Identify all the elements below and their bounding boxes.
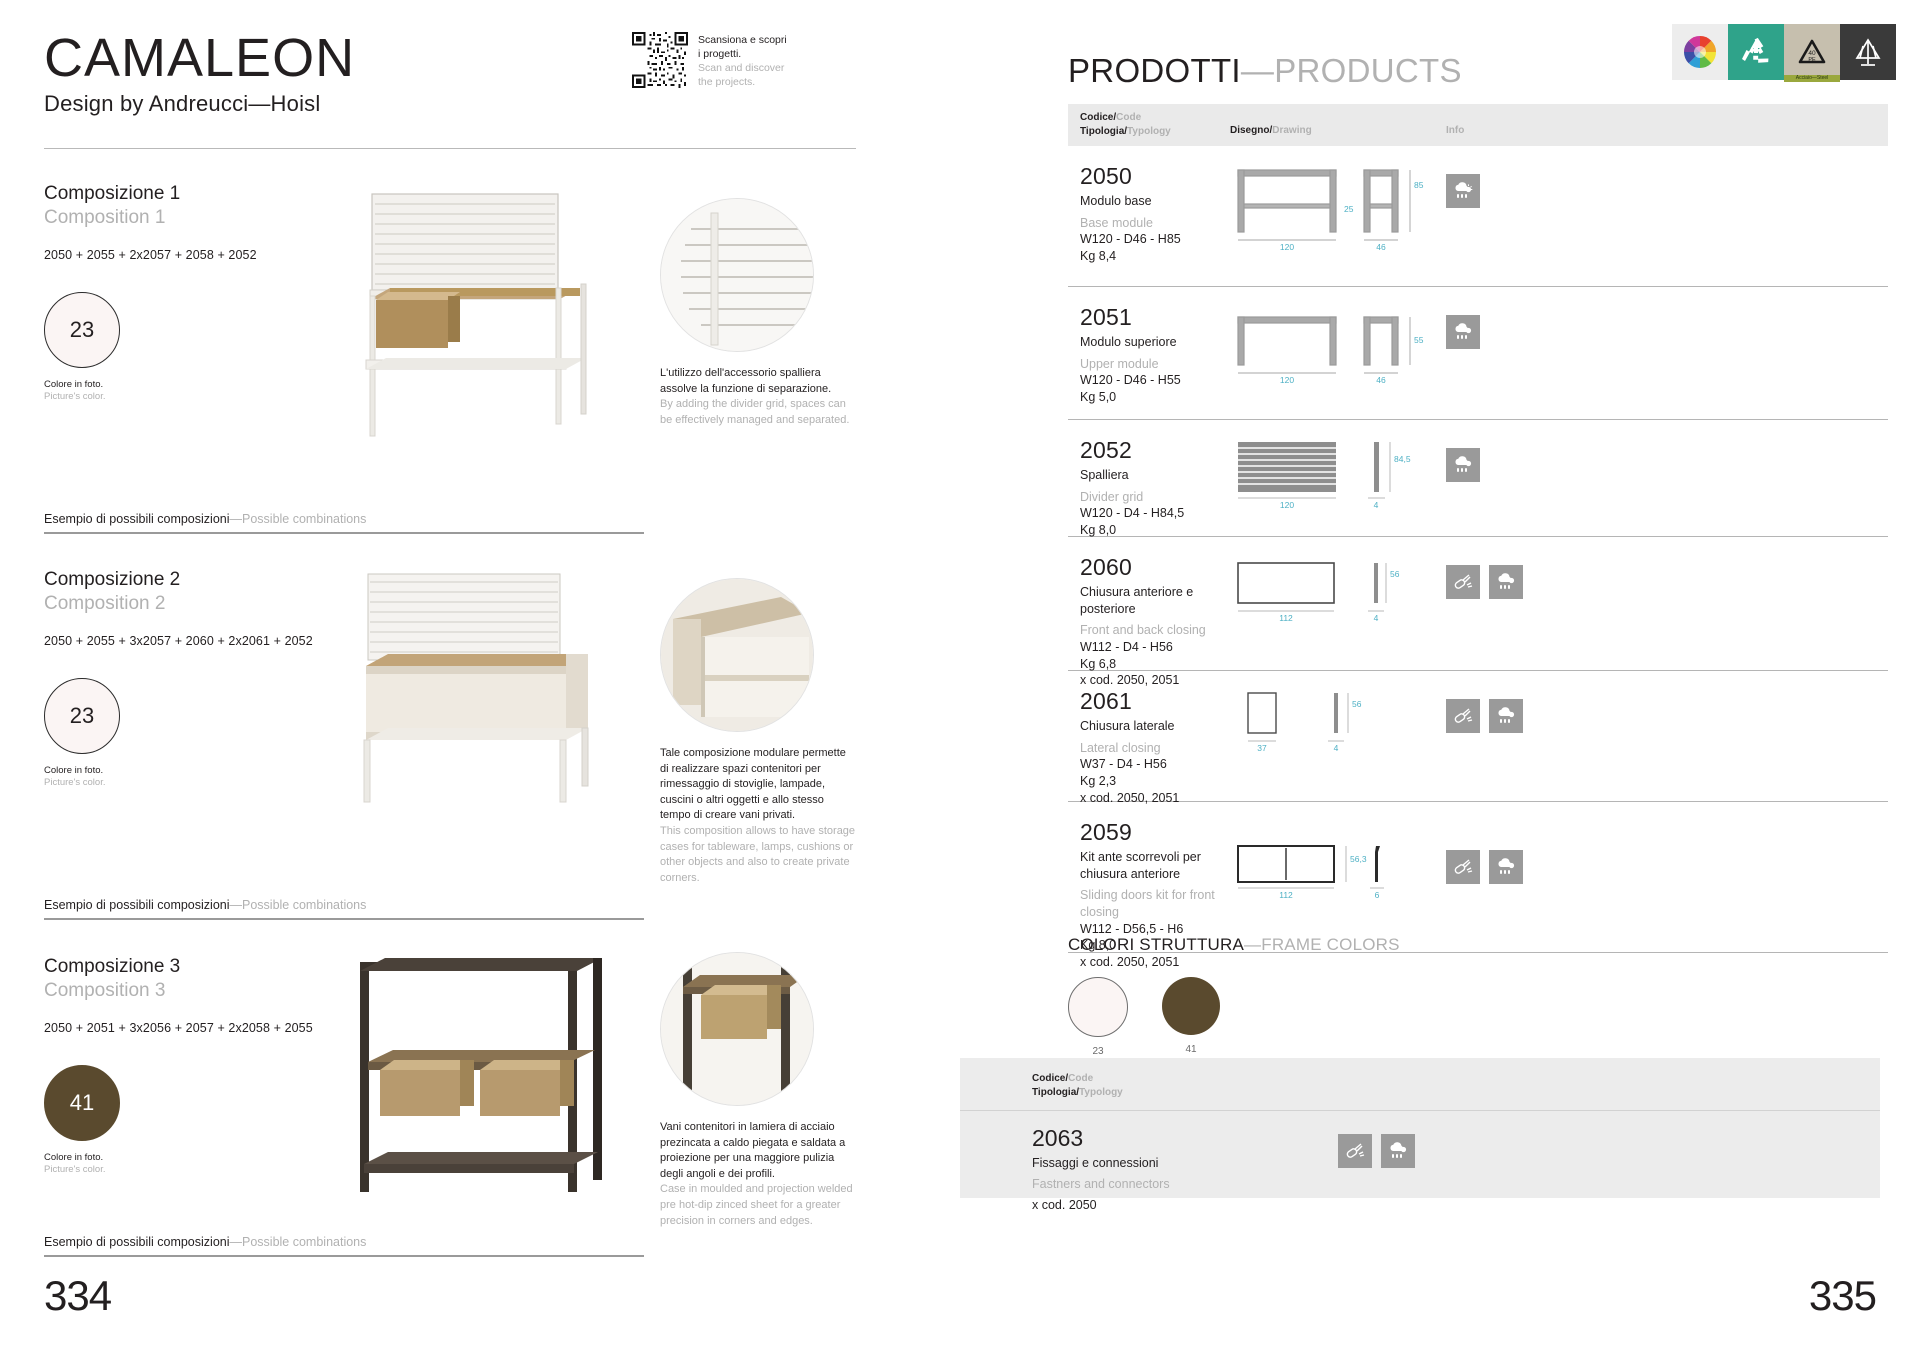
combinations-label-2: Esempio di possibili composizioni—Possib… <box>44 898 644 920</box>
combi-3-en: —Possible combinations <box>230 1235 367 1249</box>
product-row-2052[interactable]: 2052 Spalliera Divider grid W120 - D4 - … <box>1068 420 1888 537</box>
product-dims-2060: W112 - D4 - H56 <box>1080 639 1230 656</box>
product-drawing-2052: 120 4 84,5 <box>1228 436 1438 552</box>
qr-line1-en: Scan and discover <box>698 62 787 76</box>
products-table: Codice/Code Tipologia/Typology Disegno/D… <box>1068 104 1888 953</box>
composition-3-swatch-wrap: 41 Colore in foto. Picture's color. <box>44 1065 313 1178</box>
svg-text:4: 4 <box>1374 500 1379 510</box>
detail-1-text-en: By adding the divider grid, spaces can b… <box>660 397 856 428</box>
product-info-2051 <box>1446 315 1480 349</box>
svg-text:120: 120 <box>1280 375 1294 385</box>
combi-3-it: Esempio di possibili composizioni <box>44 1235 230 1249</box>
product-row-2051[interactable]: 2051 Modulo superiore Upper module W120 … <box>1068 287 1888 420</box>
product-weight-2050: Kg 8,4 <box>1080 248 1230 265</box>
detail-3-text-en: Case in moulded and projection welded pr… <box>660 1182 856 1229</box>
svg-text:85: 85 <box>1414 180 1424 190</box>
composition-2-swatch-caption: Colore in foto. Picture's color. <box>44 765 313 791</box>
swatch-caption-it: Colore in foto. <box>44 1152 313 1165</box>
header-divider <box>44 148 856 149</box>
svg-text:112: 112 <box>1279 890 1293 900</box>
composition-3-photo <box>340 952 630 1242</box>
composition-3-codes: 2050 + 2051 + 3x2056 + 2057 + 2x2058 + 2… <box>44 1021 313 1035</box>
left-page: CAMALEON Design by Andreucci—Hoisl <box>0 0 952 1358</box>
detail-1-text-it: L'utilizzo dell'accessorio spalliera ass… <box>660 366 856 397</box>
svg-text:56: 56 <box>1390 569 1400 579</box>
product-drawing-2050: 120 46 25 85 <box>1228 162 1438 302</box>
composition-1-swatch-caption: Colore in foto. Picture's color. <box>44 379 257 405</box>
composition-2-title-it: Composizione 2 <box>44 568 313 592</box>
svg-text:120: 120 <box>1280 500 1294 510</box>
accessory-code-2063: 2063 <box>1032 1126 1170 1151</box>
outdoor-weather-icon <box>1489 699 1523 733</box>
color-wheel-icon <box>1672 24 1728 80</box>
product-dims-2051: W120 - D46 - H55 <box>1080 372 1230 389</box>
th-code-it: Codice/ <box>1080 112 1116 123</box>
frame-colors-section: COLORI STRUTTURA—FRAME COLORS 23 41 <box>1068 935 1888 1057</box>
frame-colors-title-en: —FRAME COLORS <box>1244 935 1400 954</box>
composition-3-title-en: Composition 3 <box>44 979 313 1003</box>
products-title-en: —PRODUCTS <box>1241 52 1462 89</box>
composition-2-codes: 2050 + 2055 + 3x2057 + 2060 + 2x2061 + 2… <box>44 634 313 648</box>
accessory-info-2063 <box>1338 1134 1415 1168</box>
product-drawing-2060: 112 4 56 <box>1228 553 1438 686</box>
composition-3-detail-text: Vani contenitori in lamiera di acciaio p… <box>660 1120 856 1229</box>
composition-1-detail: L'utilizzo dell'accessorio spalliera ass… <box>660 198 856 428</box>
composition-2-detail: Tale composizione modulare permette di r… <box>660 578 856 886</box>
composition-2-detail-text: Tale composizione modulare permette di r… <box>660 746 856 886</box>
swatch-caption-it: Colore in foto. <box>44 379 257 392</box>
outdoor-weather-icon <box>1446 448 1480 482</box>
product-code-2051: 2051 <box>1080 305 1230 329</box>
composition-1-title-en: Composition 1 <box>44 206 257 230</box>
th-code-typology: Codice/Code Tipologia/Typology <box>1080 111 1171 138</box>
composition-3-title-it: Composizione 3 <box>44 955 313 979</box>
composition-1-title-it: Composizione 1 <box>44 182 257 206</box>
product-typ-it-2059: Kit ante scorrevoli per chiusura anterio… <box>1080 849 1230 882</box>
product-info-2061 <box>1446 699 1523 733</box>
frame-color-41[interactable]: 41 <box>1162 977 1220 1057</box>
th-code-en: Code <box>1116 112 1141 123</box>
lt-code-it: Codice/ <box>1032 1073 1068 1084</box>
svg-text:PE: PE <box>1808 57 1816 63</box>
product-row-2050[interactable]: 2050 Modulo base Base module W120 - D46 … <box>1068 146 1888 287</box>
lamp-icon <box>1840 24 1896 80</box>
swatch-caption-it: Colore in foto. <box>44 765 313 778</box>
frame-colors-row: 23 41 <box>1068 977 1888 1057</box>
frame-color-23[interactable]: 23 <box>1068 977 1128 1057</box>
th-drawing-it: Disegno/ <box>1230 125 1272 136</box>
accessory-xcod-2063: x cod. 2050 <box>1032 1197 1170 1214</box>
svg-text:55: 55 <box>1414 335 1424 345</box>
page-title: CAMALEON <box>44 30 355 87</box>
frame-colors-title-it: COLORI STRUTTURA <box>1068 935 1244 954</box>
qr-line2-en: the projects. <box>698 76 787 90</box>
lt-typology-en: Typology <box>1079 1087 1123 1098</box>
product-code-2061: 2061 <box>1080 689 1230 713</box>
qr-line1-it: Scansiona e scopri <box>698 34 787 48</box>
composition-1-detail-text: L'utilizzo dell'accessorio spalliera ass… <box>660 366 856 428</box>
outdoor-weather-icon <box>1489 850 1523 884</box>
composition-2-photo <box>330 570 640 820</box>
detail-3-text-it: Vani contenitori in lamiera di acciaio p… <box>660 1120 856 1182</box>
svg-text:112: 112 <box>1279 613 1293 623</box>
product-dims-2061: W37 - D4 - H56 <box>1080 756 1230 773</box>
product-typ-en-2050: Base module <box>1080 215 1230 232</box>
product-dims-2052: W120 - D4 - H84,5 <box>1080 505 1230 522</box>
product-code-2060: 2060 <box>1080 555 1230 579</box>
detail-2-text-it: Tale composizione modulare permette di r… <box>660 746 856 824</box>
composition-2-info: Composizione 2 Composition 2 2050 + 2055… <box>44 568 313 790</box>
product-typ-en-2059: Sliding doors kit for front closing <box>1080 887 1230 920</box>
product-info-2050 <box>1446 174 1480 208</box>
composition-1-swatch-wrap: 23 Colore in foto. Picture's color. <box>44 292 257 405</box>
svg-text:25: 25 <box>1344 204 1354 214</box>
fastener-icon <box>1446 699 1480 733</box>
lt-typology-it: Tipologia/ <box>1032 1087 1079 1098</box>
product-info-2052 <box>1446 448 1480 482</box>
fastener-icon <box>1446 850 1480 884</box>
swatch-caption-en: Picture's color. <box>44 777 313 790</box>
svg-text:46: 46 <box>1376 375 1386 385</box>
product-typ-en-2060: Front and back closing <box>1080 622 1230 639</box>
product-typ-en-2061: Lateral closing <box>1080 740 1230 757</box>
accessory-typ-en-2063: Fastners and connectors <box>1032 1176 1170 1193</box>
combinations-label-1: Esempio di possibili composizioni—Possib… <box>44 512 644 534</box>
th-drawing-en: Drawing <box>1272 125 1311 136</box>
composition-1-photo <box>330 188 630 468</box>
fastener-icon <box>1446 565 1480 599</box>
frame-color-code-23: 23 <box>1068 1046 1128 1057</box>
composition-1-info: Composizione 1 Composition 1 2050 + 2055… <box>44 182 257 404</box>
combi-1-it: Esempio di possibili composizioni <box>44 512 230 526</box>
composition-3-detail-photo <box>660 952 814 1106</box>
th-typology-en: Typology <box>1127 126 1171 137</box>
page-number-right: 335 <box>1809 1272 1876 1320</box>
product-row-2061[interactable]: 2061 Chiusura laterale Lateral closing W… <box>1068 671 1888 802</box>
recycle-icon <box>1728 24 1784 80</box>
product-dims-2050: W120 - D46 - H85 <box>1080 231 1230 248</box>
products-table-header: Codice/Code Tipologia/Typology Disegno/D… <box>1068 104 1888 146</box>
badge-3-sublabel: Acciaio—Steel <box>1784 75 1840 82</box>
designer-credit: Design by Andreucci—Hoisl <box>44 91 355 117</box>
th-drawing: Disegno/Drawing <box>1230 125 1312 136</box>
th-typology-it: Tipologia/ <box>1080 126 1127 137</box>
product-weight-2060: Kg 6,8 <box>1080 656 1230 673</box>
svg-text:40: 40 <box>1808 50 1816 57</box>
svg-text:4: 4 <box>1334 743 1339 753</box>
accessory-typ-it-2063: Fissaggi e connessioni <box>1032 1155 1170 1172</box>
outdoor-weather-icon <box>1381 1134 1415 1168</box>
combi-2-it: Esempio di possibili composizioni <box>44 898 230 912</box>
products-title-it: PRODOTTI <box>1068 52 1241 89</box>
product-typ-en-2052: Divider grid <box>1080 489 1230 506</box>
svg-text:56: 56 <box>1352 699 1362 709</box>
svg-text:37: 37 <box>1257 743 1267 753</box>
composition-1-color-swatch: 23 <box>44 292 120 368</box>
frame-color-dot-23 <box>1068 977 1128 1037</box>
products-title: PRODOTTI—PRODUCTS <box>1068 52 1462 90</box>
page-number-left: 334 <box>44 1272 111 1320</box>
detail-2-text-en: This composition allows to have storage … <box>660 824 856 886</box>
svg-text:84,5: 84,5 <box>1394 454 1411 464</box>
composition-2-title-en: Composition 2 <box>44 592 313 616</box>
product-typ-en-2051: Upper module <box>1080 356 1230 373</box>
product-code-2059: 2059 <box>1080 820 1230 844</box>
combi-1-en: —Possible combinations <box>230 512 367 526</box>
product-typ-it-2050: Modulo base <box>1080 193 1230 210</box>
composition-2-color-swatch: 23 <box>44 678 120 754</box>
outdoor-weather-icon <box>1489 565 1523 599</box>
product-row-2059[interactable]: 2059 Kit ante scorrevoli per chiusura an… <box>1068 802 1888 953</box>
qr-code-icon[interactable] <box>632 32 688 88</box>
composition-1-detail-photo <box>660 198 814 352</box>
frame-colors-title: COLORI STRUTTURA—FRAME COLORS <box>1068 935 1888 955</box>
product-weight-2051: Kg 5,0 <box>1080 389 1230 406</box>
accessories-table-divider <box>960 1110 1880 1111</box>
accessories-table-header: Codice/Code Tipologia/Typology <box>1032 1072 1123 1100</box>
composition-1-codes: 2050 + 2055 + 2x2057 + 2058 + 2052 <box>44 248 257 262</box>
svg-text:120: 120 <box>1280 242 1294 252</box>
product-typ-it-2061: Chiusura laterale <box>1080 718 1230 735</box>
accessories-row-2063[interactable]: 2063 Fissaggi e connessioni Fastners and… <box>1032 1126 1170 1213</box>
product-row-2060[interactable]: 2060 Chiusura anteriore e posteriore Fro… <box>1068 537 1888 671</box>
outdoor-weather-icon <box>1446 315 1480 349</box>
qr-line2-it: i progetti. <box>698 48 787 62</box>
product-code-2050: 2050 <box>1080 164 1230 188</box>
composition-3-detail: Vani contenitori in lamiera di acciaio p… <box>660 952 856 1229</box>
accessories-table: Codice/Code Tipologia/Typology 2063 Fiss… <box>960 1058 1880 1198</box>
qr-block[interactable]: Scansiona e scopri i progetti. Scan and … <box>632 32 787 89</box>
product-typ-it-2052: Spalliera <box>1080 467 1230 484</box>
swatch-caption-en: Picture's color. <box>44 1164 313 1177</box>
composition-3-swatch-caption: Colore in foto. Picture's color. <box>44 1152 313 1178</box>
pe-recycling-icon: 40 PE Acciaio—Steel <box>1784 24 1840 80</box>
product-drawing-2051: 120 46 55 <box>1228 303 1438 435</box>
frame-color-dot-41 <box>1162 977 1220 1035</box>
svg-text:46: 46 <box>1376 242 1386 252</box>
product-weight-2061: Kg 2,3 <box>1080 773 1230 790</box>
svg-text:4: 4 <box>1374 613 1379 623</box>
product-info-2059 <box>1446 850 1523 884</box>
composition-2-detail-photo <box>660 578 814 732</box>
brand-block: CAMALEON Design by Andreucci—Hoisl <box>44 30 355 117</box>
composition-2-swatch-wrap: 23 Colore in foto. Picture's color. <box>44 678 313 791</box>
composition-3-color-swatch: 41 <box>44 1065 120 1141</box>
product-drawing-2061: 37 4 56 <box>1228 687 1438 817</box>
product-typ-it-2051: Modulo superiore <box>1080 334 1230 351</box>
qr-caption: Scansiona e scopri i progetti. Scan and … <box>698 32 787 89</box>
lt-code-en: Code <box>1068 1073 1093 1084</box>
fastener-icon <box>1338 1134 1372 1168</box>
svg-text:56,3: 56,3 <box>1350 854 1367 864</box>
product-typ-it-2060: Chiusura anteriore e posteriore <box>1080 584 1230 617</box>
combi-2-en: —Possible combinations <box>230 898 367 912</box>
catalog-spread: CAMALEON Design by Andreucci—Hoisl <box>0 0 1920 1358</box>
badge-bar: 40 PE Acciaio—Steel <box>1672 24 1896 80</box>
swatch-caption-en: Picture's color. <box>44 391 257 404</box>
composition-3-info: Composizione 3 Composition 3 2050 + 2051… <box>44 955 313 1177</box>
th-info: Info <box>1446 125 1464 136</box>
product-code-2052: 2052 <box>1080 438 1230 462</box>
svg-text:6: 6 <box>1375 890 1380 900</box>
outdoor-weather-icon <box>1446 174 1480 208</box>
combinations-label-3: Esempio di possibili composizioni—Possib… <box>44 1235 644 1257</box>
frame-color-code-41: 41 <box>1162 1044 1220 1055</box>
product-info-2060 <box>1446 565 1523 599</box>
